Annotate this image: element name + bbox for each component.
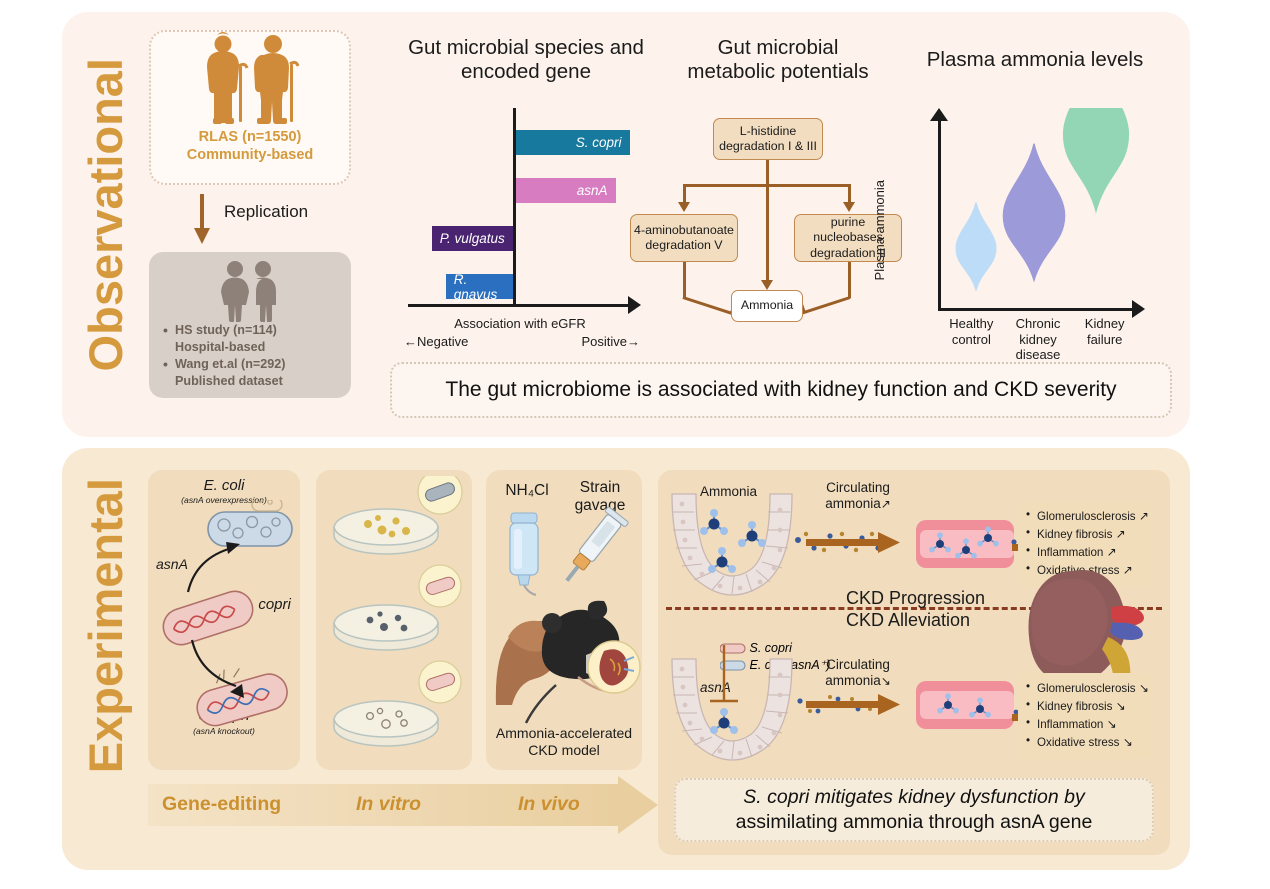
cohort-primary-line1: RLAS (n=1550) — [151, 128, 349, 146]
outcome-trend: ↘ — [1123, 735, 1133, 749]
petri-dish-3 — [334, 661, 461, 746]
flow-arrowhead-right-icon — [843, 202, 855, 212]
cohort-item-main: HS study (n=114) — [175, 323, 277, 337]
experimental-conclusion-banner: S. copri mitigates kidney dysfunction by… — [674, 778, 1154, 842]
list-item: Kidney fibrosis ↗ — [1026, 526, 1144, 544]
cohort-replication-list: HS study (n=114) Hospital-based Wang et.… — [149, 322, 351, 389]
replication-arrow-group: Replication — [188, 192, 358, 247]
gene-editing-diagram — [148, 500, 300, 760]
outcome-trend: ↗ — [1116, 527, 1126, 541]
gut-ammonia-top-diagram — [666, 488, 1016, 603]
observational-conclusion-banner: The gut microbiome is associated with ki… — [390, 362, 1172, 418]
arrowhead-up-icon — [226, 542, 240, 554]
stage-label-gene-editing: Gene-editing — [162, 793, 281, 816]
replication-label: Replication — [224, 202, 308, 222]
cohort-primary-card: RLAS (n=1550) Community-based — [149, 30, 351, 185]
outcomes-bottom: Glomerulosclerosis ↘ Kidney fibrosis ↘ I… — [1018, 673, 1154, 759]
violin-chart-title: Plasma ammonia levels — [900, 48, 1170, 72]
syringe-icon — [557, 506, 629, 588]
outcome-text: Glomerulosclerosis — [1037, 682, 1136, 695]
flow-arrowhead-left-icon — [678, 202, 690, 212]
bar-r-gnavus: R. gnavus — [446, 274, 514, 299]
cohort-item-sub: Published dataset — [175, 373, 343, 390]
ckd-alleviation-label: CKD Alleviation — [846, 610, 970, 631]
ecoli-title: E. coli — [148, 477, 300, 494]
petri-dish-2 — [334, 565, 461, 650]
asna-inhibition-arrow — [710, 645, 738, 701]
workflow-stage-arrow: Gene-editing In vitro In vivo — [148, 784, 668, 826]
cohort-replication-card: HS study (n=114) Hospital-based Wang et.… — [149, 252, 351, 398]
violin-tick-failure: Kidneyfailure — [1071, 316, 1138, 363]
stage-arrow-tip — [618, 776, 658, 834]
outcome-text: Inflammation — [1037, 718, 1103, 731]
flow-edge-left-down — [683, 262, 686, 298]
bar-chart-zero-axis — [513, 108, 516, 305]
outcome-text: Oxidative stress — [1037, 736, 1119, 749]
violin-shapes — [910, 108, 1160, 313]
list-item: Inflammation ↗ — [1026, 544, 1144, 562]
banner-line1-text: S. copri mitigates kidney dysfunction by — [743, 786, 1084, 808]
experimental-banner-line2: assimilating ammonia through asnA gene — [736, 810, 1093, 835]
ecoli-cell-icon — [208, 500, 292, 546]
gut-epithelium-bottom — [672, 659, 792, 760]
water-bottle-icon — [510, 513, 538, 595]
mouse-gavage-illustration — [486, 505, 642, 725]
list-item: Oxidative stress ↘ — [1026, 734, 1144, 752]
flow-edge-left-diag — [683, 296, 733, 315]
people-silhouette-icon — [149, 258, 351, 322]
outcome-trend: ↘ — [1116, 699, 1126, 713]
outcome-trend: ↗ — [1107, 545, 1117, 559]
outcome-trend: ↘ — [1139, 681, 1149, 695]
metabolic-flowchart: L-histidine degradation I & III 4-aminob… — [630, 118, 902, 338]
flow-arrowhead-center-icon — [761, 280, 773, 290]
gut-epithelium-top — [672, 494, 792, 595]
flow-edge-left-drop — [683, 184, 686, 204]
outcomes-bottom-list: Glomerulosclerosis ↘ Kidney fibrosis ↘ I… — [1026, 680, 1144, 752]
violin-tick-ckd: Chronickidney disease — [1005, 316, 1072, 363]
gut-ammonia-bottom-diagram — [666, 645, 1016, 765]
violin-tick-labels: Healthycontrol Chronickidney disease Kid… — [938, 316, 1138, 363]
petri-dish-stack — [316, 476, 472, 766]
bar-p-vulgatus: P. vulgatus — [432, 226, 514, 251]
violin-iqr-box — [1092, 108, 1100, 168]
list-item: Inflammation ↘ — [1026, 716, 1144, 734]
list-item: Kidney fibrosis ↘ — [1026, 698, 1144, 716]
outcome-trend: ↗ — [1139, 509, 1149, 523]
bar-chart-title: Gut microbial species and encoded gene — [404, 36, 648, 84]
experimental-panel-label: Experimental — [78, 478, 133, 773]
blood-vessel-bottom — [916, 681, 1014, 729]
ammonia-molecule-bottom — [710, 708, 738, 734]
observational-panel-label: Observational — [78, 58, 133, 371]
outcome-text: Kidney fibrosis — [1037, 700, 1112, 713]
blood-vessel-top — [916, 520, 1014, 568]
flowchart-title: Gut microbial metabolic potentials — [672, 36, 884, 84]
flow-node-sink: Ammonia — [731, 290, 803, 322]
bar-chart-direction-labels: ←Negative Positive→ — [404, 334, 640, 349]
bar-chart-x-label: Association with eGFR — [404, 316, 636, 331]
outcome-text: Glomerulosclerosis — [1037, 510, 1136, 523]
bar-chart: S. copriasnAP. vulgatusR. gnavus Associa… — [404, 108, 654, 348]
list-item: Glomerulosclerosis ↘ — [1026, 680, 1144, 698]
violin-y-label: Plasma ammonia — [872, 180, 887, 280]
elderly-people-icon — [151, 32, 349, 128]
violin-plot: Plasma ammonia Healthycontrol Chronickid… — [910, 108, 1160, 358]
flow-edge-right-drop — [848, 184, 851, 204]
bar-s-copri: S. copri — [514, 130, 630, 155]
flow-edge-center — [766, 184, 769, 282]
scopri-cell-icon — [159, 587, 258, 650]
list-item: Glomerulosclerosis ↗ — [1026, 508, 1144, 526]
outcome-trend: ↘ — [1107, 717, 1117, 731]
list-item: HS study (n=114) Hospital-based — [165, 322, 343, 355]
outcome-text: Kidney fibrosis — [1037, 528, 1112, 541]
flow-edge-source-stem — [766, 160, 769, 186]
cohort-item-sub: Hospital-based — [175, 339, 343, 356]
violin-iqr-box — [1030, 188, 1038, 244]
cohort-item-main: Wang et.al (n=292) — [175, 357, 285, 371]
down-arrow-icon — [188, 192, 228, 247]
flow-arrow-top-1 — [806, 532, 900, 553]
flow-node-left: 4-aminobutanoate degradation V — [630, 214, 738, 262]
violin-iqr-box — [972, 231, 980, 267]
list-item: Wang et.al (n=292) Published dataset — [165, 356, 343, 389]
flow-edge-right-down — [848, 262, 851, 298]
petri-dish-1 — [334, 476, 462, 554]
stage-label-in-vitro: In vitro — [356, 793, 421, 816]
cohort-primary-line2: Community-based — [151, 146, 349, 164]
stage-label-in-vivo: In vivo — [518, 793, 580, 816]
ckd-model-caption: Ammonia-accelerated CKD model — [486, 725, 642, 759]
nh4cl-label: NH₄Cl — [492, 482, 562, 500]
bar-chart-x-axis — [408, 304, 630, 307]
flow-node-source: L-histidine degradation I & III — [713, 118, 823, 160]
bar-chart-negative-label: ←Negative — [404, 334, 468, 349]
bar-asna: asnA — [514, 178, 616, 203]
experimental-banner-line1: S. copri mitigates kidney dysfunction by — [736, 785, 1093, 810]
outcome-text: Inflammation — [1037, 546, 1103, 559]
violin-tick-healthy: Healthycontrol — [938, 316, 1005, 363]
